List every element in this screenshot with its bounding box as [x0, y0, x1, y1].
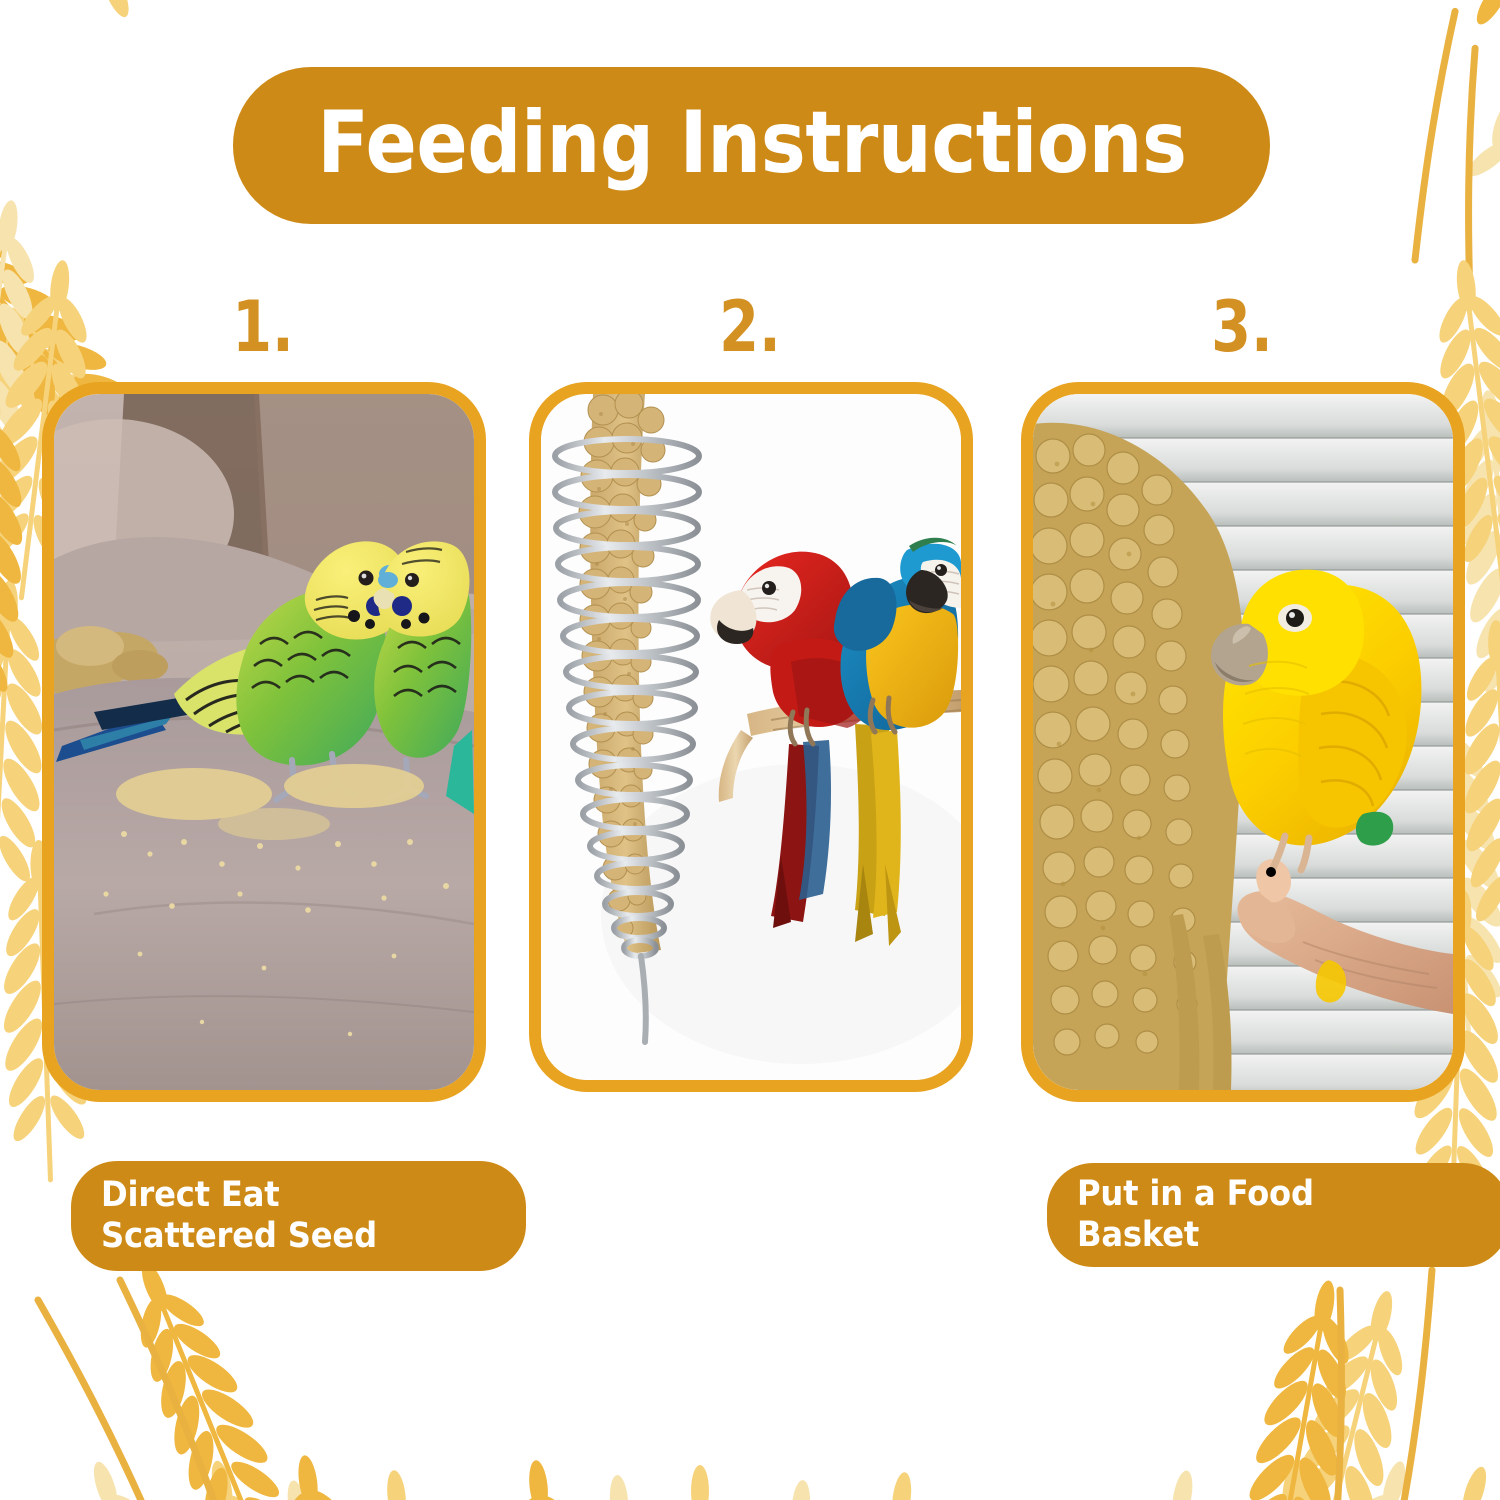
step-1-caption: Direct Eat Scattered Seed	[71, 1161, 526, 1271]
step-2: 2.	[520, 0, 980, 1500]
food-basket-and-macaws-photo-illustration	[541, 394, 961, 1080]
feeding-instructions-infographic: Feeding Instructions 1.	[0, 0, 1500, 1500]
golden-conure-photo-illustration	[1033, 394, 1453, 1090]
step-1-number: 1.	[74, 292, 451, 362]
step-1: 1.	[33, 0, 493, 1500]
budgerigars-photo-illustration	[54, 394, 474, 1090]
step-2-caption-text: Put in a Food Basket	[1077, 1174, 1447, 1255]
step-3-photo	[1033, 394, 1453, 1090]
step-3-photo-card	[1021, 382, 1465, 1102]
step-2-photo	[541, 394, 961, 1080]
step-3-number: 3.	[1053, 292, 1430, 362]
step-1-photo	[54, 394, 474, 1090]
step-2-photo-card	[529, 382, 973, 1092]
step-2-caption: Put in a Food Basket	[1047, 1163, 1500, 1267]
step-1-photo-card	[42, 382, 486, 1102]
page-title-banner: Feeding Instructions	[233, 67, 1270, 224]
step-2-number: 2.	[561, 292, 938, 362]
step-1-caption-text: Direct Eat Scattered Seed	[101, 1175, 464, 1256]
step-3: 3.	[1012, 0, 1472, 1500]
steps-container: 1.	[0, 0, 1500, 1500]
page-title: Feeding Instructions	[317, 100, 1186, 192]
